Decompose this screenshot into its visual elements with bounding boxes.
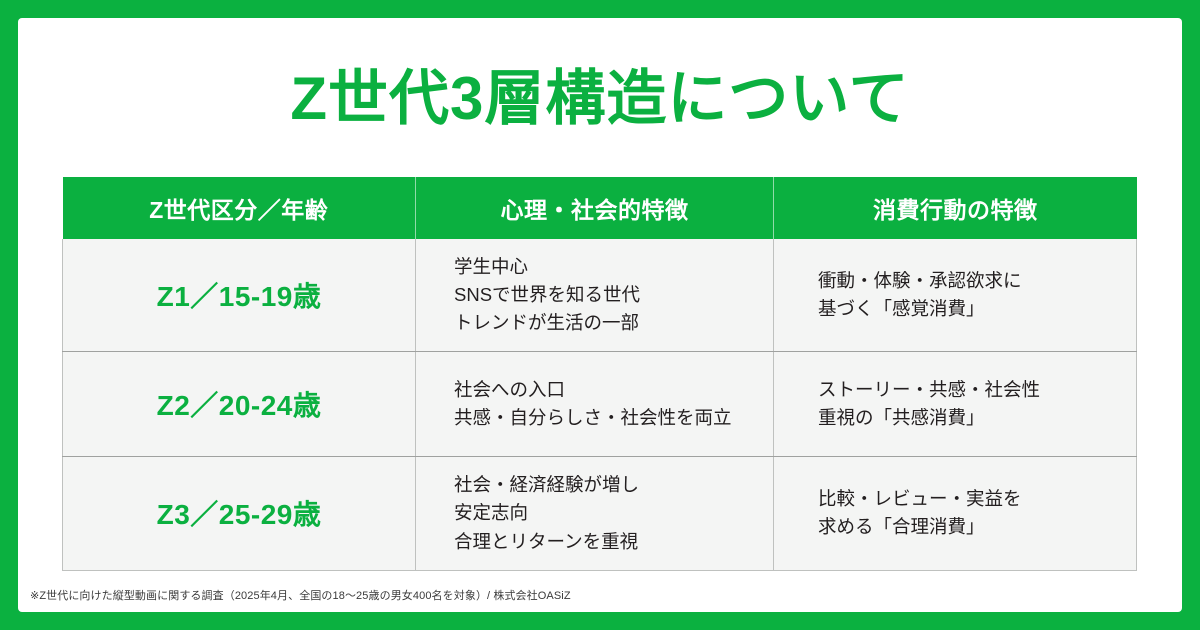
table-header-row: Z世代区分／年齢 心理・社会的特徴 消費行動の特徴	[63, 177, 1137, 239]
text-line: 求める「合理消費」	[818, 513, 1136, 541]
cell-psychological-z2: 社会への入口 共感・自分らしさ・社会性を両立	[416, 352, 774, 457]
segment-label-z3: Z3／25-29歳	[63, 493, 415, 533]
segment-label-z1: Z1／15-19歳	[63, 275, 415, 315]
text-line: 比較・レビュー・実益を	[818, 485, 1136, 513]
cell-psychological-z1: 学生中心 SNSで世界を知る世代 トレンドが生活の一部	[416, 239, 774, 352]
text-line: 重視の「共感消費」	[818, 404, 1136, 432]
consumption-lines-z2: ストーリー・共感・社会性 重視の「共感消費」	[774, 376, 1136, 432]
cell-segment-z2: Z2／20-24歳	[63, 352, 416, 457]
z-generation-table: Z世代区分／年齢 心理・社会的特徴 消費行動の特徴 Z1／15-19歳 学生中心	[62, 177, 1137, 571]
consumption-lines-z3: 比較・レビュー・実益を 求める「合理消費」	[774, 485, 1136, 541]
text-line: 社会・経済経験が増し	[454, 471, 773, 499]
psychological-lines-z3: 社会・経済経験が増し 安定志向 合理とリターンを重視	[416, 471, 773, 555]
text-line: SNSで世界を知る世代	[454, 281, 773, 309]
page-title: Z世代3層構造について	[18, 64, 1182, 133]
column-header-consumption: 消費行動の特徴	[774, 177, 1137, 239]
text-line: 衝動・体験・承認欲求に	[818, 267, 1136, 295]
column-header-psychological: 心理・社会的特徴	[416, 177, 774, 239]
cell-segment-z1: Z1／15-19歳	[63, 239, 416, 352]
text-line: トレンドが生活の一部	[454, 309, 773, 337]
source-footnote: ※Z世代に向けた縦型動画に関する調査（2025年4月、全国の18〜25歳の男女4…	[30, 587, 571, 603]
consumption-lines-z1: 衝動・体験・承認欲求に 基づく「感覚消費」	[774, 267, 1136, 323]
table-row: Z1／15-19歳 学生中心 SNSで世界を知る世代 トレンドが生活の一部 衝	[63, 239, 1137, 352]
text-line: ストーリー・共感・社会性	[818, 376, 1136, 404]
psychological-lines-z2: 社会への入口 共感・自分らしさ・社会性を両立	[416, 376, 773, 432]
text-line: 社会への入口	[454, 376, 773, 404]
text-line: 安定志向	[454, 499, 773, 527]
cell-consumption-z2: ストーリー・共感・社会性 重視の「共感消費」	[774, 352, 1137, 457]
z-generation-table-wrapper: Z世代区分／年齢 心理・社会的特徴 消費行動の特徴 Z1／15-19歳 学生中心	[62, 177, 1136, 571]
psychological-lines-z1: 学生中心 SNSで世界を知る世代 トレンドが生活の一部	[416, 253, 773, 337]
text-line: 学生中心	[454, 253, 773, 281]
segment-label-z2: Z2／20-24歳	[63, 384, 415, 424]
cell-consumption-z1: 衝動・体験・承認欲求に 基づく「感覚消費」	[774, 239, 1137, 352]
table-body: Z1／15-19歳 学生中心 SNSで世界を知る世代 トレンドが生活の一部 衝	[63, 239, 1137, 570]
text-line: 基づく「感覚消費」	[818, 295, 1136, 323]
table-row: Z2／20-24歳 社会への入口 共感・自分らしさ・社会性を両立 ストーリー・共…	[63, 352, 1137, 457]
cell-segment-z3: Z3／25-29歳	[63, 457, 416, 570]
table-header: Z世代区分／年齢 心理・社会的特徴 消費行動の特徴	[63, 177, 1137, 239]
text-line: 合理とリターンを重視	[454, 528, 773, 556]
slide-frame: Z世代3層構造について Z世代区分／年齢 心理・社会的特徴 消費行動の特徴	[0, 0, 1200, 630]
slide-canvas: Z世代3層構造について Z世代区分／年齢 心理・社会的特徴 消費行動の特徴	[18, 18, 1182, 612]
cell-psychological-z3: 社会・経済経験が増し 安定志向 合理とリターンを重視	[416, 457, 774, 570]
cell-consumption-z3: 比較・レビュー・実益を 求める「合理消費」	[774, 457, 1137, 570]
table-row: Z3／25-29歳 社会・経済経験が増し 安定志向 合理とリターンを重視 比較	[63, 457, 1137, 570]
column-header-segment: Z世代区分／年齢	[63, 177, 416, 239]
text-line: 共感・自分らしさ・社会性を両立	[454, 404, 773, 432]
